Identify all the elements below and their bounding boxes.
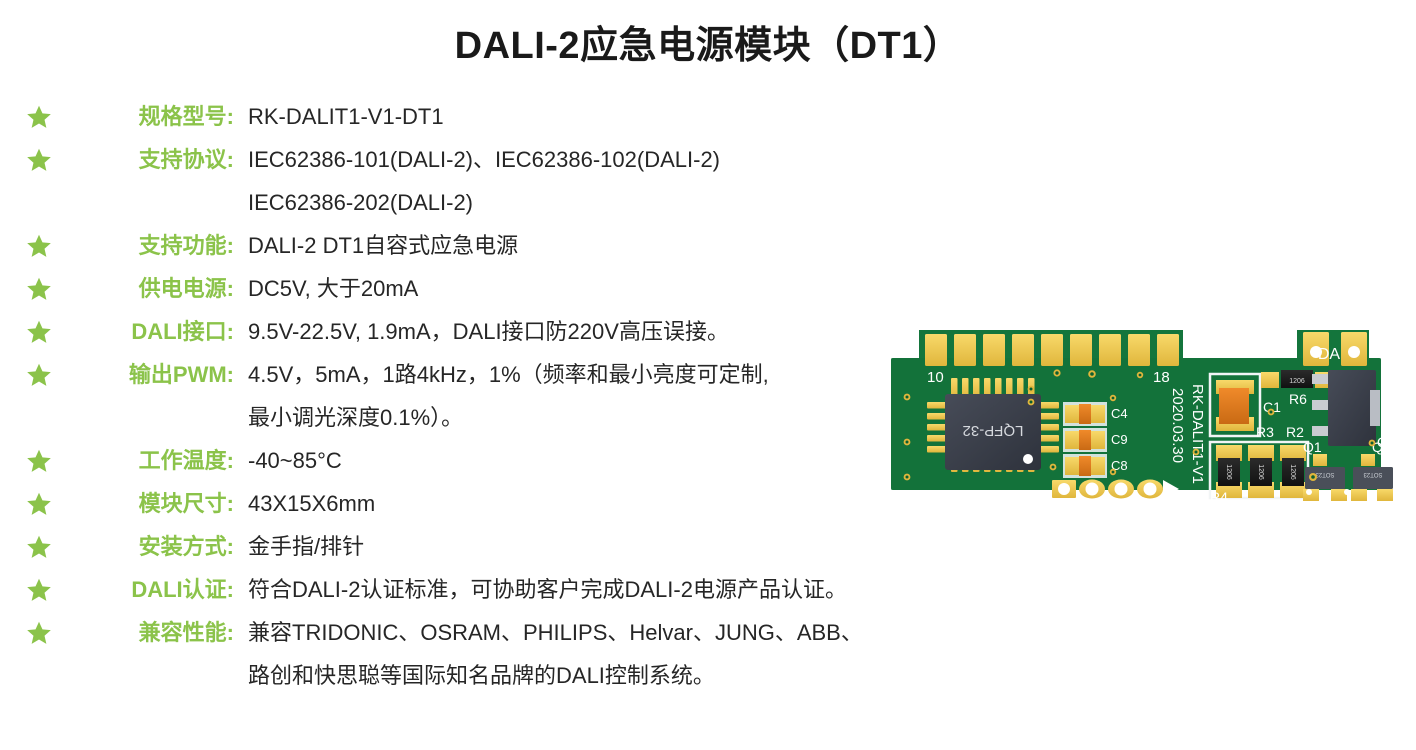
spec-row-mounting: 安装方式: 金手指/排针 xyxy=(26,530,1006,573)
silkscreen-r3: R3 xyxy=(1256,424,1274,440)
spec-row-dali-interface: DALI接口: 9.5V-22.5V, 1.9mA，DALI接口防220V高压误… xyxy=(26,315,1006,358)
spec-row-power-supply: 供电电源: DC5V, 大于20mA xyxy=(26,272,1006,315)
spec-row-dali-certification: DALI认证: 符合DALI-2认证标准，可协助客户完成DALI-2电源产品认证… xyxy=(26,573,1006,616)
page-title: DALI-2应急电源模块（DT1） xyxy=(0,14,1416,69)
silkscreen-board-name: RK-DALIT1-V1 xyxy=(1189,384,1206,484)
spec-row-compatibility: 兼容性能: 兼容TRIDONIC、OSRAM、PHILIPS、Helvar、JU… xyxy=(26,616,1006,659)
spec-label: 安装方式: xyxy=(70,530,242,564)
star-icon xyxy=(26,362,52,388)
star-icon xyxy=(26,233,52,259)
star-icon xyxy=(26,147,52,173)
spec-row-function: 支持功能: DALI-2 DT1自容式应急电源 xyxy=(26,229,1006,272)
silkscreen-c9: C9 xyxy=(1111,432,1128,447)
silkscreen-r4: R4 xyxy=(1210,489,1228,505)
spec-label: 支持功能: xyxy=(70,229,242,263)
spec-row-protocol: 支持协议: IEC62386-101(DALI-2)、IEC62386-102(… xyxy=(26,143,1006,186)
spec-value-continuation: IEC62386-202(DALI-2) xyxy=(242,186,1006,220)
spec-label: 模块尺寸: xyxy=(70,487,242,521)
spec-value: DALI-2 DT1自容式应急电源 xyxy=(242,229,1006,263)
spec-label: 工作温度: xyxy=(70,444,242,478)
spec-row-module-size: 模块尺寸: 43X15X6mm xyxy=(26,487,1006,530)
spec-value: 兼容TRIDONIC、OSRAM、PHILIPS、Helvar、JUNG、ABB… xyxy=(242,616,1006,650)
resistor-code-r4: 1206 xyxy=(1225,464,1232,480)
mcu-marking: LQFP-32 xyxy=(963,422,1024,439)
star-icon xyxy=(26,104,52,130)
spec-label: 供电电源: xyxy=(70,272,242,306)
bullet-cell xyxy=(26,616,70,646)
bullet-cell xyxy=(26,272,70,302)
spec-row-pwm-output: 输出PWM: 4.5V，5mA，1路4kHz，1%（频率和最小亮度可定制, xyxy=(26,358,1006,401)
resistor-code-r2: 1206 xyxy=(1289,464,1296,480)
silkscreen-q1: Q1 xyxy=(1303,439,1322,455)
spec-row-protocol-cont: 支持协议: IEC62386-202(DALI-2) xyxy=(26,186,1006,229)
transistor-code-q2: SOT23 xyxy=(1363,471,1383,477)
spec-row-operating-temperature: 工作温度: -40~85°C xyxy=(26,444,1006,487)
transistor-code-q1: SOT23 xyxy=(1315,471,1335,477)
silkscreen-board-date: 2020.03.30 xyxy=(1169,388,1186,463)
spec-label: 兼容性能: xyxy=(70,616,242,650)
spec-label: 规格型号: xyxy=(70,100,242,134)
bullet-cell xyxy=(26,530,70,560)
bullet-cell xyxy=(26,315,70,345)
bullet-cell xyxy=(26,229,70,259)
specification-list: 规格型号: RK-DALIT1-V1-DT1 支持协议: IEC62386-10… xyxy=(26,100,1006,702)
capacitor-group-c4-c9-c8: C4 C9 C8 xyxy=(1063,402,1128,478)
bullet-cell xyxy=(26,143,70,173)
bullet-cell xyxy=(26,487,70,517)
spec-label: DALI接口: xyxy=(70,315,242,349)
spec-value: DC5V, 大于20mA xyxy=(242,272,1006,306)
spec-value: RK-DALIT1-V1-DT1 xyxy=(242,100,1006,134)
star-icon xyxy=(26,577,52,603)
spec-row-compatibility-cont: 兼容性能: 路创和快思聪等国际知名品牌的DALI控制系统。 xyxy=(26,659,1006,702)
bullet-cell xyxy=(26,573,70,603)
resistor-code-r6: 1206 xyxy=(1289,378,1305,385)
spec-value: 符合DALI-2认证标准，可协助客户完成DALI-2电源产品认证。 xyxy=(242,573,1006,607)
star-icon xyxy=(26,491,52,517)
product-image-pcb: 10 18 xyxy=(885,312,1405,532)
silkscreen-da: DA xyxy=(1318,346,1341,363)
bullet-cell xyxy=(26,444,70,474)
spec-value: IEC62386-101(DALI-2)、IEC62386-102(DALI-2… xyxy=(242,143,1006,177)
star-icon xyxy=(26,534,52,560)
resistor-code-r3: 1206 xyxy=(1257,464,1264,480)
spec-label: 支持协议: xyxy=(70,143,242,177)
silkscreen-pin-left: 10 xyxy=(927,369,944,386)
gold-finger-connector xyxy=(925,334,1179,366)
silkscreen-r2: R2 xyxy=(1286,424,1304,440)
spec-row-pwm-output-cont: 输出PWM: 最小调光深度0.1%）。 xyxy=(26,401,1006,444)
pcb-illustration: 10 18 xyxy=(885,312,1405,532)
spec-label: DALI认证: xyxy=(70,573,242,607)
spec-value-continuation: 路创和快思聪等国际知名品牌的DALI控制系统。 xyxy=(242,659,1006,693)
silkscreen-c4: C4 xyxy=(1111,406,1128,421)
star-icon xyxy=(26,448,52,474)
product-spec-sheet: DALI-2应急电源模块（DT1） 规格型号: RK-DALIT1-V1-DT1… xyxy=(0,0,1416,750)
bullet-cell xyxy=(26,358,70,388)
star-icon xyxy=(26,620,52,646)
silkscreen-pin-right: 18 xyxy=(1153,369,1170,386)
star-icon xyxy=(26,319,52,345)
bullet-cell xyxy=(26,100,70,130)
silkscreen-r6: R6 xyxy=(1289,391,1307,407)
spec-label: 输出PWM: xyxy=(70,358,242,392)
spec-value: 金手指/排针 xyxy=(242,530,1006,564)
spec-row-model: 规格型号: RK-DALIT1-V1-DT1 xyxy=(26,100,1006,143)
star-icon xyxy=(26,276,52,302)
